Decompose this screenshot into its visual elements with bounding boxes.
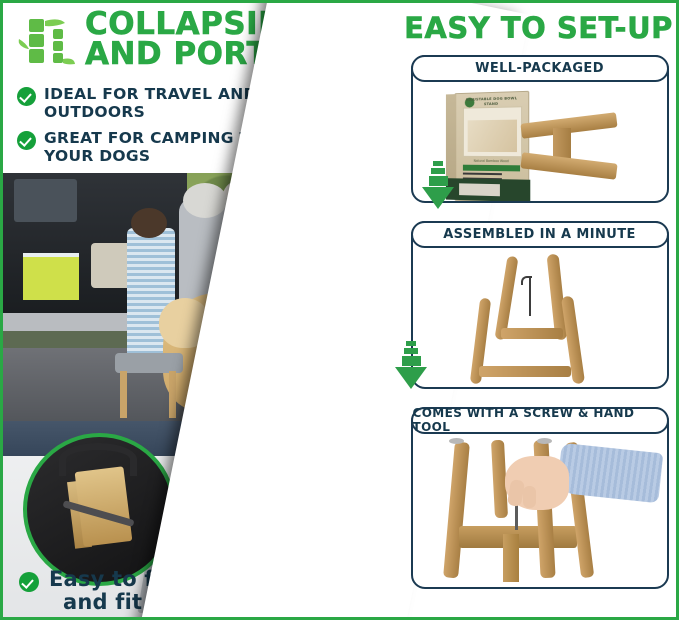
box-title: ADJUSTABLE DOG BOWL STAND [465,96,518,106]
page-title: COLLAPSIBLE AND PORTABLE [85,9,375,69]
photo-hand [505,456,569,510]
photo-stand-leg [120,371,126,418]
photo-stand-leg [169,371,175,418]
family-lifestyle-photo [3,173,403,423]
photo-girl [283,228,339,328]
headline-block: COLLAPSIBLE AND PORTABLE IDEAL FOR TRAVE… [3,3,383,173]
photo-dog-head [159,298,211,348]
box-product-photo [468,120,517,152]
photo-boy-head [131,208,167,238]
setup-title: EASY TO SET-UP [396,11,679,45]
product-infographic: COLLAPSIBLE AND PORTABLE IDEAL FOR TRAVE… [0,0,679,620]
check-circle-icon [19,572,39,592]
step-label: COMES WITH A SCREW & HAND TOOL [413,406,667,434]
photo-grandmother-head [183,183,227,218]
stand-center-post [503,534,519,582]
box-green-band [463,165,520,172]
fold-caption: Easy to fold and fit into a bag [19,568,349,614]
photo-bowl-stand [115,353,183,418]
step-card-screw-and-tool: COMES WITH A SCREW & HAND TOOL [411,407,669,589]
photo-girl-jeans [283,318,335,398]
box-window [463,106,522,157]
photo-girl-head [243,213,283,246]
folded-stand-illustration [465,254,605,386]
bullet-label: IDEAL FOR TRAVEL AND THE OUTDOORS [44,85,377,121]
right-panel: EASY TO SET-UP WELL-PACKAGED ADJUSTABLE … [386,3,679,617]
left-panel: COLLAPSIBLE AND PORTABLE IDEAL FOR TRAVE… [3,3,415,617]
down-arrow-icon [422,161,454,209]
photo-cooler [23,253,79,300]
fold-caption-line-1: Easy to fold [49,567,191,591]
feature-bullets: IDEAL FOR TRAVEL AND THE OUTDOORS GREAT … [17,85,377,173]
step-card-assembled: ASSEMBLED IN A MINUTE [411,221,669,389]
photo-bowls [115,353,183,373]
photo-car-window [14,179,77,223]
step-header: ASSEMBLED IN A MINUTE [411,221,669,248]
stand-rail [501,328,563,339]
down-arrow-icon [395,341,427,389]
photo-sleeve [557,443,664,503]
leg-cap [449,438,464,444]
hex-key-icon [529,276,531,316]
backpack-circle-inset [23,433,176,586]
step-artwork [413,250,667,387]
bamboo-stalks-icon [17,13,79,75]
step-artwork [413,436,667,587]
box-subtitle: Natural Bamboo Wood [463,159,520,163]
hand-assembly-illustration [431,438,661,587]
stand-leg [443,442,470,579]
list-item: IDEAL FOR TRAVEL AND THE OUTDOORS [17,85,377,121]
list-item: GREAT FOR CAMPING TRIPS WITH YOUR DOGS [17,129,377,165]
stand-rail [479,366,571,377]
travel-bag-photo: Easy to fold and fit into a bag [3,421,395,617]
photo-bowl-empty [179,472,248,517]
check-circle-icon [17,87,36,106]
bullet-label: GREAT FOR CAMPING TRIPS WITH YOUR DOGS [44,129,377,165]
headline-line-2: AND PORTABLE [85,39,375,69]
step-header: COMES WITH A SCREW & HAND TOOL [411,407,669,434]
check-circle-icon [17,131,36,150]
step-label: WELL-PACKAGED [475,61,604,76]
step-label: ASSEMBLED IN A MINUTE [443,227,636,242]
box-footer [446,178,530,201]
product-box: ADJUSTABLE DOG BOWL STAND Natural Bamboo… [454,91,529,201]
fold-caption-line-2: and fit into a bag [63,591,349,614]
step-header: WELL-PACKAGED [411,55,669,82]
leg-cap [537,438,552,444]
